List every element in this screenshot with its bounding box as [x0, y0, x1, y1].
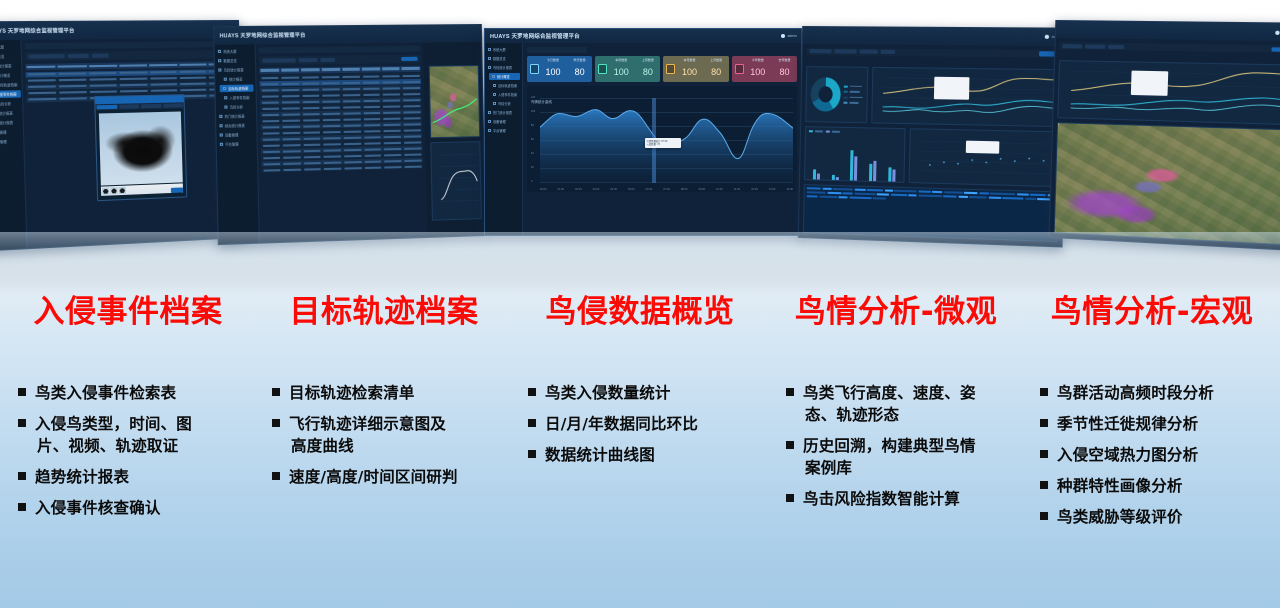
device-icon	[488, 120, 491, 123]
sidebar-item-6[interactable]: 鸟情分析	[0, 100, 23, 108]
sidebar-item-2[interactable]: 鸟情统计报表	[218, 66, 255, 74]
list-item: 日/月/年数据同比环比	[528, 413, 764, 435]
panel-data-overview[interactable]: HUAYS 天罗地网综合监视管理平台 admin 系统大屏 数据总览 鸟情统计报…	[484, 28, 802, 236]
heading-col-5: 鸟情分析-宏观	[1024, 283, 1280, 341]
panel2-content	[256, 42, 428, 242]
panel-intrusion-archive[interactable]: HUAYS 天罗地网综合监视管理平台 系统大屏 数据总览 鸟情统计报表 统计概览…	[0, 20, 245, 251]
combined-report-icon	[219, 124, 222, 127]
bullet-square-icon	[18, 503, 26, 511]
bird-statistics-chart[interactable]: 鸟情统计曲线 120 100 80 60 40 20 0	[527, 86, 797, 192]
report-icon	[218, 68, 221, 71]
bullet-square-icon	[1040, 450, 1048, 458]
date-range-input[interactable]	[262, 58, 295, 63]
type-select[interactable]	[299, 58, 318, 62]
list-item: 数据统计曲线图	[528, 444, 764, 466]
user-menu[interactable]: admin	[1276, 30, 1280, 34]
legend-item	[844, 90, 863, 94]
stat-label: 去年数量	[778, 58, 790, 62]
feature-columns: 鸟类入侵事件检索表 入侵鸟类型，时间、图片、视频、轨迹取证 趋势统计报表 入侵事…	[0, 382, 1280, 608]
sidebar-item-7[interactable]: 热门统计报表	[0, 109, 23, 117]
sidebar-item-track-archive[interactable]: 目标轨迹档案	[220, 84, 254, 92]
panel1-brand: HUAYS 天罗地网综合监视管理平台	[0, 27, 75, 35]
intrusion-detail-modal[interactable]	[94, 94, 187, 201]
filter-1[interactable]	[810, 49, 832, 53]
height-select[interactable]	[320, 58, 335, 62]
chart-icon	[218, 59, 221, 62]
heading-col-1: 入侵事件档案	[0, 283, 256, 341]
macro-line-chart	[1058, 61, 1280, 124]
thumbnail[interactable]	[110, 187, 117, 194]
platform-icon	[220, 143, 223, 146]
sidebar-item-4[interactable]: 目标轨迹档案	[493, 82, 522, 89]
page-title: 鸟情分析-微观	[795, 295, 997, 329]
filter-bar[interactable]	[25, 50, 236, 61]
feature-column-intrusion-archive: 鸟类入侵事件检索表 入侵鸟类型，时间、图片、视频、轨迹取证 趋势统计报表 入侵事…	[0, 382, 258, 608]
track-icon	[493, 84, 496, 87]
sidebar-item-8[interactable]: 综合统计报表	[0, 119, 23, 127]
stat-value: 80	[779, 67, 789, 77]
chart-tooltip: 鸟情数量统计 07:00 入侵数量: 70	[645, 138, 681, 148]
tooltip-line-2: 入侵数量: 70	[646, 143, 660, 146]
sidebar-item-6[interactable]: 鸟情分析	[493, 100, 522, 107]
sidebar-item-0[interactable]: 系统大屏	[218, 47, 255, 55]
sidebar-item-intrusion-archive[interactable]: 入侵事件档案	[0, 91, 21, 99]
list-item: 入侵事件核查确认	[18, 497, 254, 519]
chart-tooltip	[934, 77, 970, 100]
page-title: 鸟情分析-宏观	[1051, 295, 1253, 329]
y-tick: 60	[531, 138, 534, 141]
sidebar-item-10[interactable]: 平台管理	[220, 140, 257, 148]
device-icon	[220, 133, 223, 136]
list-item: 鸟击风险指数智能计算	[786, 488, 1022, 510]
bullet-square-icon	[272, 388, 280, 396]
grid-icon	[488, 48, 491, 51]
section-headings: 入侵事件档案 目标轨迹档案 鸟侵数据概览 鸟情分析-微观 鸟情分析-宏观	[0, 283, 1280, 341]
list-item: 鸟类入侵事件检索表	[18, 382, 254, 404]
stat-value: 80	[643, 67, 653, 77]
modal-confirm-button[interactable]	[171, 187, 183, 193]
filter-bar[interactable]	[259, 55, 421, 65]
feature-column-micro-analysis: 鸟类飞行高度、速度、姿态、轨迹形态 历史回溯，构建典型鸟情案例库 鸟击风险指数智…	[768, 382, 1026, 608]
bullet-square-icon	[18, 472, 26, 480]
panel2-sidebar[interactable]: 系统大屏 数据总览 鸟情统计报表 统计概览 目标轨迹档案 入侵事件档案 鸟情分析…	[215, 44, 260, 244]
stat-label: 今日数量	[545, 58, 560, 62]
query-button[interactable]	[1271, 47, 1280, 52]
grid-icon	[218, 50, 221, 53]
legend-item	[844, 95, 863, 99]
report-icon	[488, 66, 491, 69]
heading-col-3: 鸟侵数据概览	[512, 283, 768, 341]
filter-2[interactable]	[1085, 44, 1105, 48]
bullet-square-icon	[1040, 481, 1048, 489]
list-item: 鸟类飞行高度、速度、姿态、轨迹形态	[786, 382, 1022, 426]
y-tick: 20	[531, 166, 534, 169]
altitude-curve-widget	[430, 141, 482, 221]
sidebar-item-10[interactable]: 平台管理	[488, 127, 522, 134]
sidebar-item-9[interactable]: 设备管理	[488, 118, 522, 125]
sidebar-item-10[interactable]: 平台管理	[0, 138, 24, 146]
stat-value: 100	[614, 67, 629, 77]
breadcrumb	[259, 45, 420, 53]
feature-column-macro-analysis: 鸟群活动高频时段分析 季节性迁徙规律分析 入侵空域热力图分析 种群特性画像分析 …	[1026, 382, 1280, 608]
stat-card-today[interactable]: 今日数量100 昨天数量80	[527, 56, 592, 82]
tab-video[interactable]	[119, 104, 139, 109]
sidebar-item-1[interactable]: 数据总览	[0, 53, 21, 61]
list-item: 目标轨迹检索清单	[272, 382, 508, 404]
filter-1[interactable]	[1062, 44, 1082, 48]
panel3-titlebar: HUAYS 天罗地网综合监视管理平台 admin	[485, 29, 801, 43]
list-item: 飞行轨迹详细示意图及高度曲线	[272, 413, 508, 457]
date-range-input[interactable]	[29, 54, 65, 59]
sidebar-item-4[interactable]: 目标轨迹档案	[0, 81, 22, 89]
donut-chart	[810, 77, 841, 112]
flight-track-line	[430, 66, 479, 136]
archive-icon	[224, 96, 227, 99]
avatar	[1276, 30, 1280, 34]
track-icon	[223, 87, 226, 90]
y-tick: 0	[531, 180, 532, 183]
filter-2[interactable]	[834, 50, 856, 54]
airspace-heatmap-map[interactable]	[1054, 122, 1280, 245]
calendar-year-icon	[735, 64, 744, 74]
modal-tabs[interactable]	[95, 102, 183, 110]
sidebar-item-3[interactable]: 统计概览	[0, 72, 22, 80]
bullet-square-icon	[18, 388, 26, 396]
list-item: 入侵空域热力图分析	[1040, 444, 1276, 466]
panel3-content: 今日数量100 昨天数量80 本周数量100 上周数量80 本月数量100	[523, 43, 801, 235]
bar-comparison-widget[interactable]	[804, 126, 906, 183]
stat-label: 本周数量	[614, 58, 629, 62]
list-item: 鸟类威胁等级评价	[1040, 506, 1276, 528]
sidebar-item-7[interactable]: 热门统计报表	[219, 112, 256, 120]
sidebar-item-9[interactable]: 设备管理	[0, 128, 23, 136]
analysis-icon	[224, 105, 227, 108]
legend-item	[843, 101, 862, 105]
legend-item	[844, 84, 863, 88]
page-title: 入侵事件档案	[34, 295, 223, 329]
overview-icon	[492, 75, 495, 78]
y-tick: 100	[531, 110, 535, 113]
list-item: 入侵鸟类型，时间、图片、视频、轨迹取证	[18, 413, 254, 457]
panel2-titlebar: HUAYS 天罗地网综合监视管理平台	[214, 25, 481, 45]
filter-3[interactable]	[860, 50, 878, 54]
calendar-week-icon	[598, 64, 607, 74]
sidebar-item-2[interactable]: 鸟情统计报表	[488, 64, 522, 71]
breadcrumb	[25, 41, 236, 49]
sidebar-item-2[interactable]: 鸟情统计报表	[0, 62, 21, 70]
list-item: 鸟类入侵数量统计	[528, 382, 764, 404]
stat-card-year[interactable]: 今年数量100 去年数量80	[732, 56, 797, 82]
stat-label: 上周数量	[642, 58, 654, 62]
status-select[interactable]	[92, 54, 109, 58]
avatar	[1045, 35, 1049, 39]
feature-column-data-overview: 鸟类入侵数量统计 日/月/年数据同比环比 数据统计曲线图	[512, 382, 768, 608]
tab-track[interactable]	[141, 104, 161, 109]
panel4-content	[799, 44, 1066, 247]
tab-info[interactable]	[163, 103, 183, 108]
sidebar-item-0[interactable]: 系统大屏	[0, 43, 21, 51]
bullet-square-icon	[786, 494, 794, 502]
bullet-square-icon	[18, 419, 26, 427]
sidebar-item-1[interactable]: 数据总览	[218, 56, 255, 64]
chart-icon	[488, 57, 491, 60]
stat-value: 100	[682, 67, 697, 77]
panel-track-archive[interactable]: HUAYS 天罗地网综合监视管理平台 系统大屏 数据总览 鸟情统计报表 统计概览…	[213, 24, 486, 245]
scatter-chart	[910, 129, 1059, 186]
sidebar-item-6[interactable]: 鸟情分析	[224, 103, 256, 111]
y-tick: 40	[531, 152, 534, 155]
bullet-square-icon	[528, 450, 536, 458]
stat-value: 80	[711, 67, 721, 77]
calendar-month-icon	[666, 64, 675, 74]
tab-photo[interactable]	[97, 105, 117, 110]
page-title: 鸟侵数据概览	[546, 295, 735, 329]
sidebar-item-5[interactable]: 入侵事件档案	[493, 91, 522, 98]
stat-value: 100	[545, 67, 560, 77]
sidebar-item-8[interactable]: 综合统计报表	[219, 121, 256, 129]
avatar	[781, 34, 785, 38]
multiline-trend-widget[interactable]	[871, 67, 1061, 127]
platform-icon	[488, 129, 491, 132]
calendar-day-icon	[530, 64, 539, 74]
filter-3[interactable]	[1108, 45, 1124, 49]
bullet-square-icon	[786, 441, 794, 449]
sidebar-item-9[interactable]: 设备管理	[220, 130, 257, 138]
thumbnail[interactable]	[102, 187, 109, 194]
stat-cards: 今日数量100 昨天数量80 本周数量100 上周数量80 本月数量100	[527, 56, 797, 82]
analysis-icon	[493, 102, 496, 105]
stat-value: 80	[575, 67, 585, 77]
chart-tooltip	[1131, 71, 1168, 96]
bullet-square-icon	[1040, 388, 1048, 396]
list-item: 历史回溯，构建典型鸟情案例库	[786, 435, 1022, 479]
filter-4[interactable]	[881, 50, 895, 54]
sidebar-item-1[interactable]: 数据总览	[488, 55, 522, 62]
page-title: 目标轨迹档案	[290, 295, 479, 329]
panel3-brand: HUAYS 天罗地网综合监视管理平台	[490, 32, 580, 40]
list-item: 季节性迁徙规律分析	[1040, 413, 1276, 435]
chart-tooltip	[966, 140, 1000, 153]
bullet-square-icon	[1040, 512, 1048, 520]
stat-label: 本月数量	[682, 58, 697, 62]
bullet-square-icon	[786, 388, 794, 396]
y-tick: 80	[531, 124, 534, 127]
filter-bar[interactable]	[807, 48, 1062, 58]
slide-stage: HUAYS 天罗地网综合监视管理平台 系统大屏 数据总览 鸟情统计报表 统计概览…	[0, 0, 1280, 608]
search-button[interactable]	[401, 56, 417, 61]
panel5-content	[1050, 38, 1280, 249]
user-name: admin	[787, 34, 797, 38]
bar-chart	[805, 141, 904, 182]
bullet-square-icon	[1040, 419, 1048, 427]
sidebar-item-overview[interactable]: 统计概览	[489, 73, 520, 80]
heading-col-4: 鸟情分析-微观	[768, 283, 1024, 341]
stat-value: 100	[750, 67, 765, 77]
hot-report-icon	[219, 115, 222, 118]
list-item: 种群特性画像分析	[1040, 475, 1276, 497]
panel-bird-analysis-macro[interactable]: admin	[1049, 20, 1280, 251]
bullet-square-icon	[528, 419, 536, 427]
stat-card-month[interactable]: 本月数量100 上月数量80	[663, 56, 728, 82]
heading-col-2: 目标轨迹档案	[256, 283, 512, 341]
sidebar-item-0[interactable]: 系统大屏	[488, 46, 522, 53]
track-map-thumbnail[interactable]	[429, 65, 480, 138]
list-item: 趋势统计报表	[18, 466, 254, 488]
macro-trend-widget[interactable]	[1057, 60, 1280, 125]
stat-label: 今年数量	[750, 58, 765, 62]
list-item: 鸟群活动高频时段分析	[1040, 382, 1276, 404]
altitude-curve	[431, 142, 481, 220]
bird-type-select[interactable]	[68, 54, 89, 58]
overview-icon	[224, 77, 227, 80]
panel-bird-analysis-micro[interactable]: admin	[798, 26, 1068, 247]
stat-label: 上月数量	[710, 58, 722, 62]
sidebar-item-3[interactable]: 统计概览	[224, 75, 256, 83]
feature-column-track-archive: 目标轨迹检索清单 飞行轨迹详细示意图及高度曲线 速度/高度/时间区间研判	[258, 382, 512, 608]
y-tick: 120	[531, 96, 535, 99]
panel3-sidebar[interactable]: 系统大屏 数据总览 鸟情统计报表 统计概览 目标轨迹档案 入侵事件档案 鸟情分析…	[485, 43, 523, 235]
bullet-square-icon	[528, 388, 536, 396]
bird-photo	[99, 111, 183, 185]
hot-report-icon	[488, 111, 491, 114]
thumbnail[interactable]	[119, 187, 126, 194]
bullet-square-icon	[272, 419, 280, 427]
archive-icon	[493, 93, 496, 96]
species-donut-widget[interactable]	[805, 66, 868, 123]
list-item: 速度/高度/时间区间研判	[272, 466, 508, 488]
breadcrumb	[527, 47, 587, 53]
scatter-trend-widget[interactable]	[909, 128, 1060, 187]
bar-legend	[806, 127, 905, 137]
user-menu[interactable]: admin	[781, 34, 797, 38]
stat-card-week[interactable]: 本周数量100 上周数量80	[595, 56, 660, 82]
stat-label: 昨天数量	[574, 58, 586, 62]
filter-bar[interactable]	[1059, 42, 1280, 53]
panel2-brand: HUAYS 天罗地网综合监视管理平台	[220, 31, 306, 39]
sidebar-item-5[interactable]: 入侵事件档案	[224, 93, 256, 101]
bullet-square-icon	[272, 472, 280, 480]
x-axis-ticks: 00:0001:00 02:0003:00 04:0005:00 06:0007…	[540, 188, 793, 191]
sidebar-item-7[interactable]: 热门统计报表	[488, 109, 522, 116]
